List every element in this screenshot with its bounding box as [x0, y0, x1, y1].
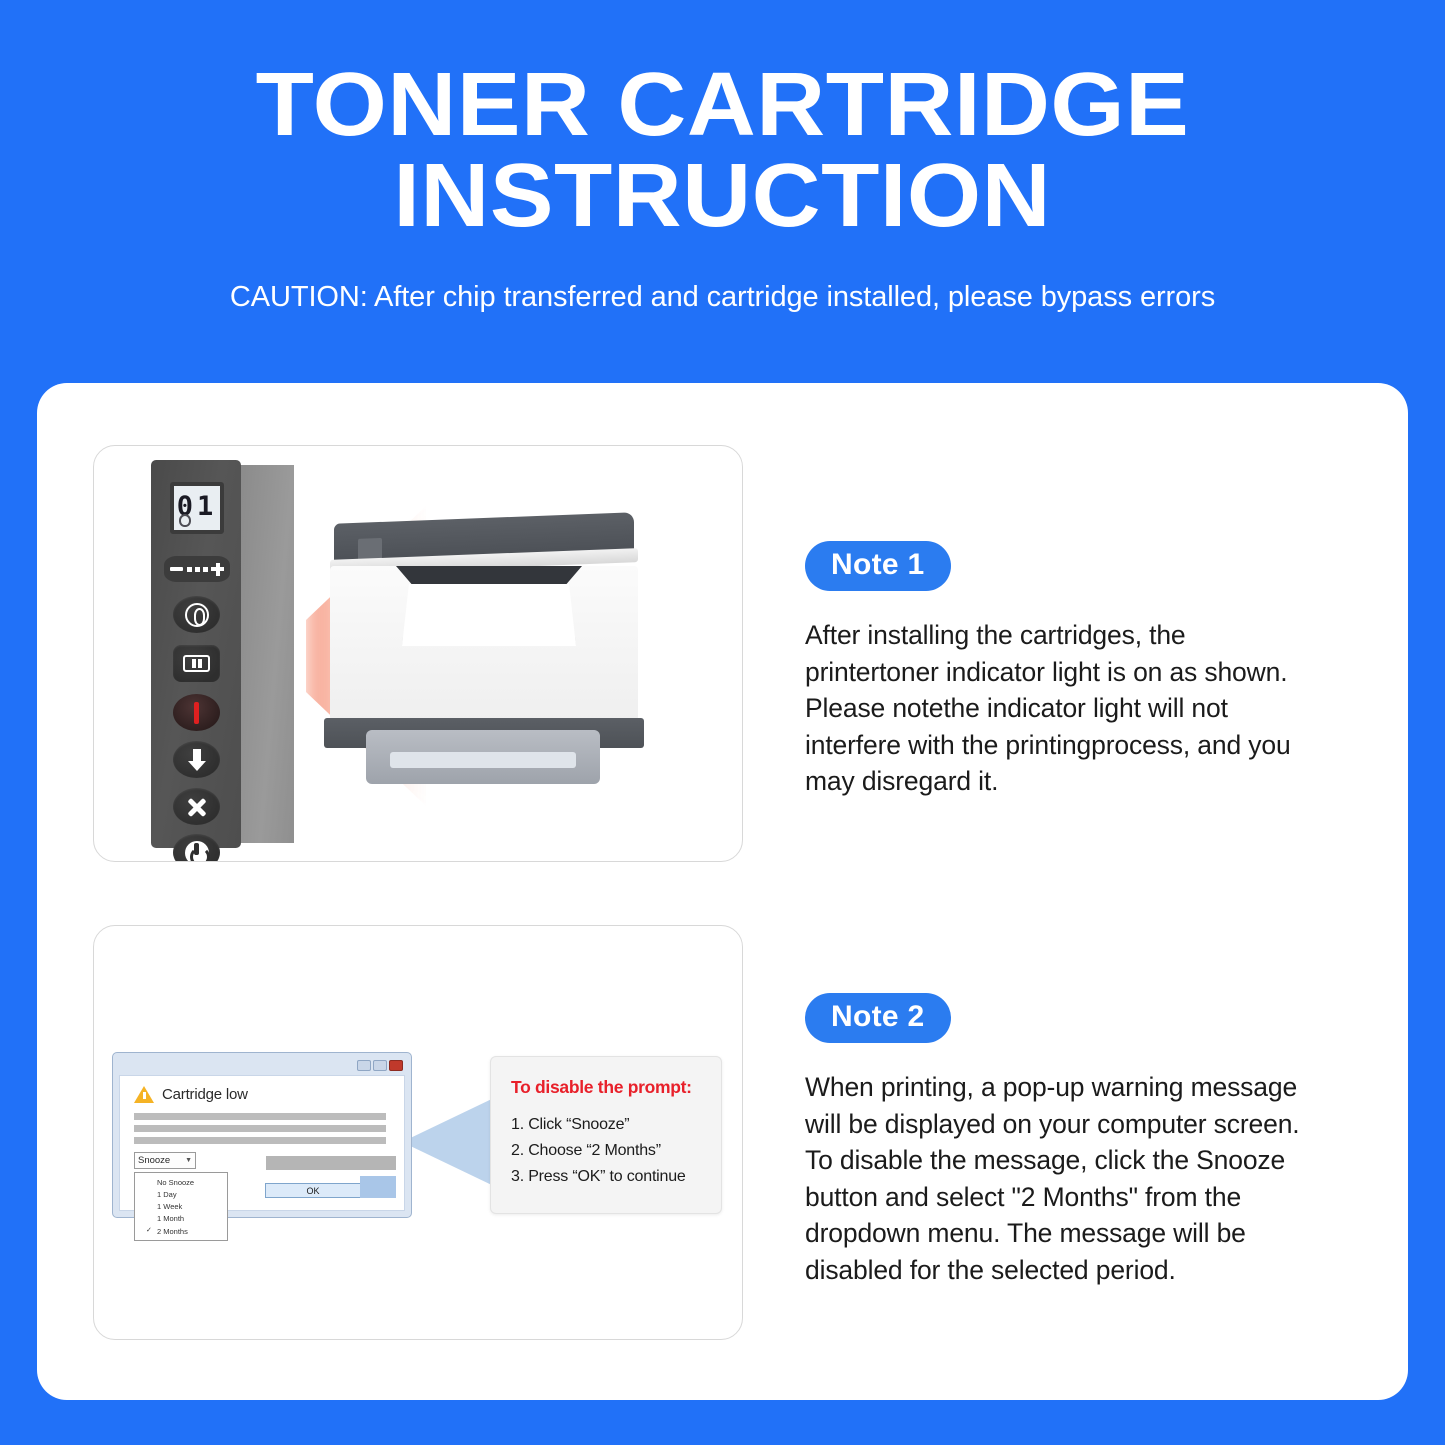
maximize-icon[interactable] — [373, 1060, 387, 1071]
toner-drop-icon — [179, 514, 191, 527]
printed-paper — [402, 584, 576, 646]
paper-tray-slot — [390, 752, 576, 768]
illustration-panel-printer: 01 — [93, 445, 743, 862]
id-card-copy-button[interactable] — [173, 645, 220, 682]
control-panel-side-wall — [241, 465, 294, 843]
wireless-icon — [185, 603, 209, 627]
dots-indicator-icon — [187, 567, 208, 572]
id-card-icon — [183, 655, 210, 672]
dialog-content: Cartridge low Snooze ▼ No Snooze — [119, 1075, 405, 1211]
note-1-badge: Note 1 — [805, 541, 951, 591]
lcd-display: 01 — [170, 482, 224, 534]
printer-body — [330, 566, 638, 721]
minus-icon[interactable] — [170, 567, 183, 571]
callout-step: 1. Click “Snooze” — [511, 1112, 721, 1138]
minimize-icon[interactable] — [357, 1060, 371, 1071]
warning-triangle-icon — [134, 1086, 154, 1103]
close-icon — [186, 796, 208, 818]
note-2-column: Note 2 When printing, a pop-up warning m… — [805, 925, 1325, 1288]
chevron-down-icon: ▼ — [185, 1157, 192, 1164]
dialog-blue-field — [360, 1176, 396, 1198]
page-title-line-2: INSTRUCTION — [394, 153, 1052, 240]
wireless-button[interactable] — [173, 596, 220, 633]
callout-steps: 1. Click “Snooze” 2. Choose “2 Months” 3… — [511, 1112, 721, 1190]
snooze-options-list[interactable]: No Snooze 1 Day 1 Week 1 Month 2 Months — [134, 1172, 228, 1241]
snooze-option-selected[interactable]: 2 Months — [135, 1225, 227, 1237]
snooze-dropdown[interactable]: Snooze ▼ — [134, 1152, 196, 1169]
power-icon — [185, 841, 209, 863]
note-2-body: When printing, a pop-up warning message … — [805, 1069, 1325, 1288]
note-row-2: Cartridge low Snooze ▼ No Snooze — [93, 925, 1325, 1340]
callout-pointer — [402, 1096, 498, 1188]
dialog-header: Cartridge low — [120, 1076, 404, 1103]
snooze-option[interactable]: 1 Week — [135, 1201, 227, 1213]
callout-heading: To disable the prompt: — [511, 1077, 721, 1098]
copies-control-bar — [164, 556, 230, 582]
content-card: 01 — [37, 383, 1408, 1400]
callout-step: 2. Choose “2 Months” — [511, 1138, 721, 1164]
dialog-titlebar — [117, 1057, 407, 1073]
disable-prompt-callout: To disable the prompt: 1. Click “Snooze”… — [490, 1056, 722, 1214]
page-subtitle: CAUTION: After chip transferred and cart… — [230, 281, 1215, 314]
poster-root: TONER CARTRIDGE INSTRUCTION CAUTION: Aft… — [0, 0, 1445, 1445]
note-2-badge: Note 2 — [805, 993, 951, 1043]
toner-alert-indicator — [173, 694, 220, 731]
poster-header: TONER CARTRIDGE INSTRUCTION CAUTION: Aft… — [0, 0, 1445, 383]
cancel-button[interactable] — [173, 788, 220, 825]
illustration-panel-dialog: Cartridge low Snooze ▼ No Snooze — [93, 925, 743, 1340]
cartridge-low-dialog: Cartridge low Snooze ▼ No Snooze — [112, 1052, 412, 1218]
snooze-option[interactable]: 1 Day — [135, 1188, 227, 1200]
printer-illustration — [316, 508, 646, 798]
note-1-body: After installing the cartridges, the pri… — [805, 617, 1325, 800]
resume-button[interactable] — [173, 741, 220, 778]
snooze-option[interactable]: No Snooze — [135, 1176, 227, 1188]
ok-button[interactable]: OK — [265, 1183, 361, 1198]
note-1-column: Note 1 After installing the cartridges, … — [805, 445, 1325, 800]
dialog-illustration: Cartridge low Snooze ▼ No Snooze — [112, 1052, 728, 1218]
printer-control-panel: 01 — [151, 460, 311, 850]
snooze-dropdown-label: Snooze — [138, 1155, 170, 1166]
dialog-body-placeholder-lines — [120, 1103, 404, 1144]
plus-icon[interactable] — [211, 563, 224, 576]
snooze-option[interactable]: 1 Month — [135, 1213, 227, 1225]
note-row-1: 01 — [93, 445, 1325, 862]
page-title-line-1: TONER CARTRIDGE — [256, 62, 1190, 149]
alert-exclamation-icon — [194, 702, 199, 724]
callout-step: 3. Press “OK” to continue — [511, 1164, 721, 1190]
dialog-title: Cartridge low — [162, 1086, 248, 1103]
close-window-icon[interactable] — [389, 1060, 403, 1071]
dialog-gray-field — [266, 1156, 396, 1170]
paper-tray — [366, 730, 600, 784]
